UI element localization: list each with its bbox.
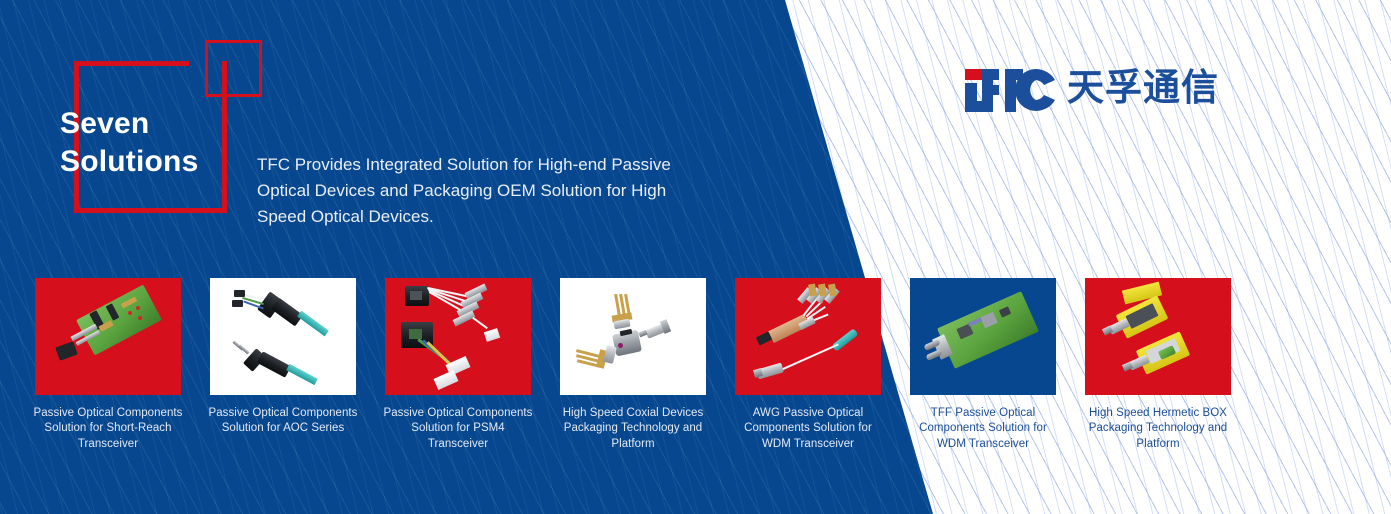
awg-boot-art [818,283,827,296]
card-thumbnail [35,278,181,395]
card-caption: AWG Passive Optical Components Solution … [732,406,884,452]
awg-boot-art [828,283,837,296]
to-can-cap-art [603,345,617,364]
to-can-cap-art [613,319,630,330]
card-thumbnail [735,278,881,395]
receptacle-tip-art [638,330,647,338]
aoc-connector-body-art [257,351,291,378]
psm4-ribbon-art [426,341,451,365]
awg-fiber-art [781,343,838,370]
banner-root: Seven Solutions TFC Provides Integrated … [0,0,1391,514]
psm4-window-art [409,329,422,339]
solution-card[interactable]: Passive Optical Components Solution for … [32,278,184,452]
awg-boot-art [808,283,817,296]
tff-pcb-board-art [937,291,1039,369]
solution-card[interactable]: AWG Passive Optical Components Solution … [732,278,884,452]
card-thumbnail [910,278,1056,395]
mpo-connector-art [484,328,500,342]
card-caption: TFF Passive Optical Components Solution … [907,406,1059,452]
pcb-board-art [76,285,162,356]
solution-cards-row: Passive Optical Components Solution for … [0,278,1391,478]
mt-ferrule-art [55,341,78,361]
solution-card[interactable]: Passive Optical Components Solution for … [382,278,534,452]
card-thumbnail [1085,278,1231,395]
aoc-mini-connector-art [234,290,245,297]
aoc-mini-connector-art [232,300,243,307]
card-thumbnail [385,278,531,395]
psm4-window-art [410,291,422,300]
aoc-teal-cable-art [297,311,329,337]
awg-ferrule-art [756,331,773,345]
psm4-fiber-art [472,317,488,329]
card-caption: Passive Optical Components Solution for … [207,406,359,437]
aoc-connector-body-art [271,298,303,327]
mpo-connector-art [434,370,459,390]
page-title-line-2: Solutions [60,143,198,181]
pcb-pad-dot-art [128,311,132,315]
awg-teal-sleeve-art [832,328,859,352]
tfc-logo-mark-icon [963,66,1063,114]
red-frame-small-decoration [205,40,262,97]
aoc-teal-cable-art [286,364,318,385]
solution-card[interactable]: TFF Passive Optical Components Solution … [907,278,1059,452]
pcb-pad-dot-art [136,306,140,310]
page-title-line-1: Seven [60,105,198,143]
card-caption: Passive Optical Components Solution for … [32,406,184,452]
description-text: TFC Provides Integrated Solution for Hig… [257,152,717,229]
card-caption: High Speed Coxial Devices Packaging Tech… [557,406,709,452]
optical-spot-art [618,343,623,348]
solution-card[interactable]: High Speed Coxial Devices Packaging Tech… [557,278,709,452]
page-title: Seven Solutions [60,105,198,181]
card-caption: High Speed Hermetic BOX Packaging Techno… [1082,406,1234,452]
card-thumbnail [560,278,706,395]
tfc-logo: 天孚通信 [963,66,1213,114]
tfc-logo-cjk-text: 天孚通信 [1067,64,1219,112]
pcb-pad-dot-art [138,316,142,320]
card-caption: Passive Optical Components Solution for … [382,406,534,452]
solution-card[interactable]: Passive Optical Components Solution for … [207,278,359,437]
solution-card[interactable]: High Speed Hermetic BOX Packaging Techno… [1082,278,1234,452]
card-thumbnail [210,278,356,395]
